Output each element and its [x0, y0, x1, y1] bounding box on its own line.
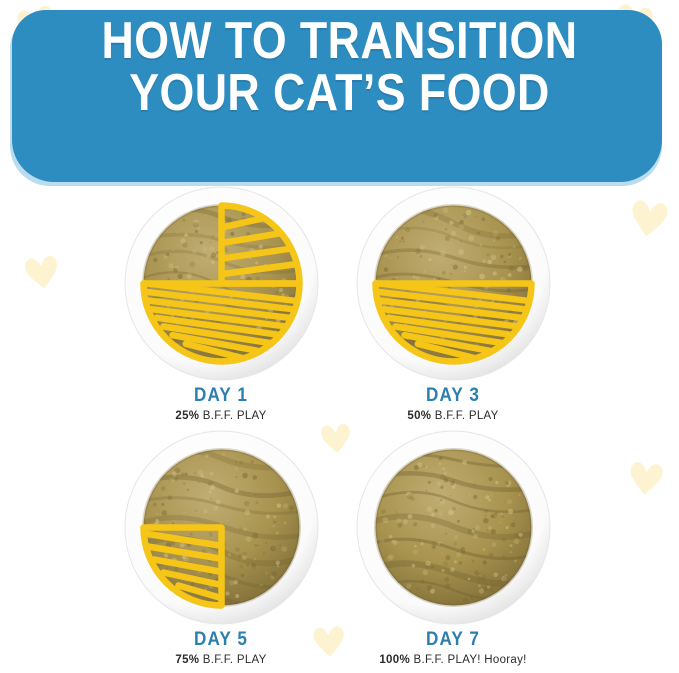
food-bowl-diagram	[356, 186, 551, 381]
percentage-suffix: B.F.F. PLAY	[431, 410, 498, 422]
percentage-label: 100% B.F.F. PLAY! Hooray!	[338, 654, 568, 666]
day-label: DAY 7	[350, 629, 557, 651]
percentage-value: 100%	[379, 654, 410, 666]
food-bowl-diagram	[124, 430, 319, 625]
percentage-value: 75%	[175, 654, 199, 666]
banner-background	[12, 10, 662, 182]
infographic-canvas: HOW TO TRANSITION YOUR CAT’S FOOD DAY 12…	[0, 0, 679, 673]
heart-icon	[624, 456, 668, 500]
percentage-value: 25%	[175, 410, 199, 422]
percentage-suffix: B.F.F. PLAY! Hooray!	[410, 654, 527, 666]
step-card-day-7: DAY 7100% B.F.F. PLAY! Hooray!	[338, 430, 568, 666]
percentage-suffix: B.F.F. PLAY	[199, 410, 266, 422]
step-card-day-5: DAY 575% B.F.F. PLAY	[106, 430, 336, 666]
day-label: DAY 3	[350, 385, 557, 407]
food-bowl-diagram	[124, 186, 319, 381]
step-card-day-1: DAY 125% B.F.F. PLAY	[106, 186, 336, 422]
day-label: DAY 5	[118, 629, 325, 651]
step-card-day-3: DAY 350% B.F.F. PLAY	[338, 186, 568, 422]
percentage-suffix: B.F.F. PLAY	[199, 654, 266, 666]
percentage-label: 25% B.F.F. PLAY	[106, 410, 336, 422]
heart-icon	[19, 249, 64, 294]
percentage-label: 75% B.F.F. PLAY	[106, 654, 336, 666]
title-banner: HOW TO TRANSITION YOUR CAT’S FOOD	[0, 0, 679, 210]
food-bowl-diagram	[356, 430, 551, 625]
percentage-label: 50% B.F.F. PLAY	[338, 410, 568, 422]
percentage-value: 50%	[407, 410, 431, 422]
day-label: DAY 1	[118, 385, 325, 407]
